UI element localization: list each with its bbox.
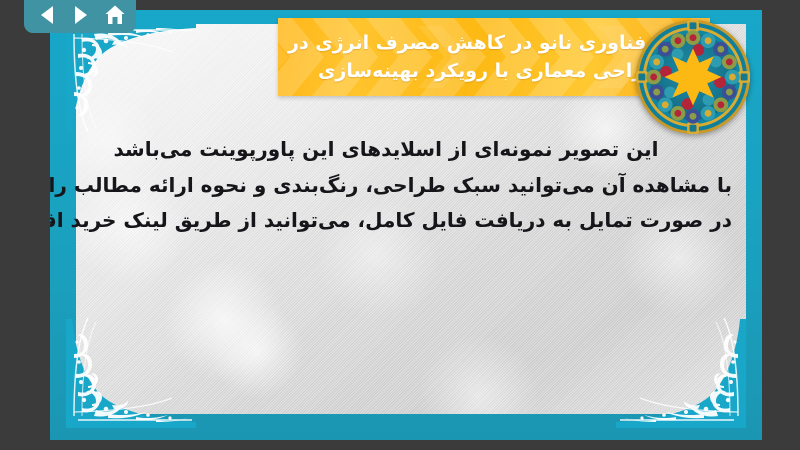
title-line-2: طراحی معماری با رویکرد بهینه‌سازی <box>318 57 662 86</box>
home-icon <box>103 4 127 26</box>
arrow-left-icon <box>41 6 53 24</box>
previous-slide-button[interactable] <box>35 3 59 27</box>
arrow-right-icon <box>75 6 87 24</box>
slide-navigation-bar <box>24 0 136 33</box>
body-line-2: با مشاهده آن می‌توانید سبک طراحی، رنگ‌بن… <box>80 168 732 204</box>
slide-body-text: این تصویر نمونه‌ای از اسلایدهای این پاور… <box>80 132 732 239</box>
body-line-1: این تصویر نمونه‌ای از اسلایدهای این پاور… <box>80 132 732 168</box>
persian-medallion-ornament <box>634 18 752 136</box>
slide-viewer: کاربرد فناوری نانو در کاهش مصرف انرژی در… <box>0 0 800 450</box>
next-slide-button[interactable] <box>69 3 93 27</box>
slide-canvas: کاربرد فناوری نانو در کاهش مصرف انرژی در… <box>50 10 762 440</box>
body-line-3: در صورت تمایل به دریافت فایل کامل، می‌تو… <box>80 203 732 239</box>
home-button[interactable] <box>103 3 127 27</box>
